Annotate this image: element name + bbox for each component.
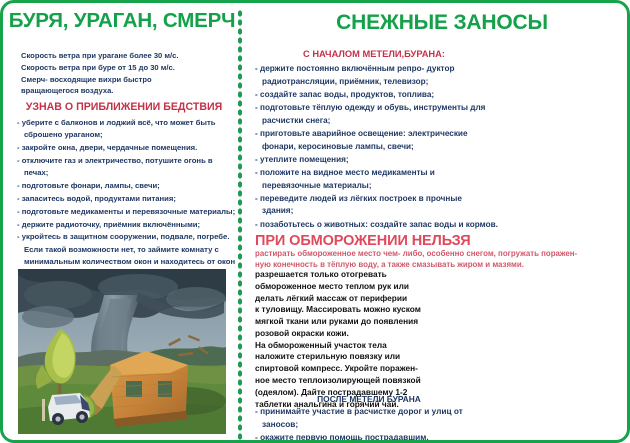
list-item: утеплите помещения; — [255, 154, 495, 167]
frostbite-warning-text: растирать обмороженное место чем- либо, … — [255, 248, 630, 270]
list-item: уберите с балконов и лоджий всё, что мож… — [17, 117, 239, 142]
list-item: переведите людей из лёгких построек в пр… — [255, 193, 495, 219]
list-item: положите на видное место медикаменты и п… — [255, 167, 495, 193]
list-item: отключите газ и электричество, потушите … — [17, 155, 239, 180]
list-item: запаситесь водой, продуктами питания; — [17, 193, 239, 205]
list-item: подготовьте фонари, лампы, свечи; — [17, 180, 239, 192]
after-blizzard-subheading: ПОСЛЕ МЕТЕЛИ БУРАНА — [255, 394, 483, 404]
list-item: окажите первую помощь пострадавшим. — [255, 431, 487, 443]
storm-intro-text: Скорость ветра при урагане более 30 м/с.… — [21, 50, 235, 97]
left-column-storm: БУРЯ, УРАГАН, СМЕРЧ Скорость ветра при у… — [3, 3, 241, 443]
frostbite-instructions-text: разрешается только отогревать обмороженн… — [255, 269, 455, 410]
list-item: подготовьте тёплую одежду и обувь, инстр… — [255, 102, 495, 128]
blizzard-precautions-list: держите постоянно включённым репро- дукт… — [255, 63, 495, 218]
storm-subheading: УЗНАВ О ПРИБЛИЖЕНИИ БЕДСТВИЯ — [11, 101, 237, 113]
list-item: принимайте участие в расчистке дорог и у… — [255, 405, 487, 431]
right-column-snow: СНЕЖНЫЕ ЗАНОСЫ С НАЧАЛОМ МЕТЕЛИ,БУРАНА: … — [247, 3, 630, 443]
storm-precautions-list: уберите с балконов и лоджий всё, что мож… — [17, 117, 239, 281]
list-item: приготовьте аварийное освещение: электри… — [255, 128, 495, 154]
blizzard-animals-item: позаботьтесь о животных: создайте запас … — [255, 220, 630, 229]
list-item: подготовьте медикаменты и перевязочные м… — [17, 206, 239, 218]
list-item: создайте запас воды, продуктов, топлива; — [255, 89, 495, 102]
frostbite-heading: ПРИ ОБМОРОЖЕНИИ НЕЛЬЗЯ — [255, 233, 630, 249]
list-item: закройте окна, двери, чердачные помещени… — [17, 142, 239, 154]
page-title-snow: СНЕЖНЫЕ ЗАНОСЫ — [257, 11, 627, 35]
page-title-storm: БУРЯ, УРАГАН, СМЕРЧ — [7, 9, 237, 33]
after-blizzard-list: принимайте участие в расчистке дорог и у… — [255, 405, 487, 443]
emergency-safety-poster: БУРЯ, УРАГАН, СМЕРЧ Скорость ветра при у… — [0, 0, 630, 443]
tornado-illustration — [18, 269, 226, 434]
list-item: держите постоянно включённым репро- дукт… — [255, 63, 495, 89]
list-item: держите радиоточку, приёмник включёнными… — [17, 219, 239, 231]
blizzard-subheading: С НАЧАЛОМ МЕТЕЛИ,БУРАНА: — [261, 49, 487, 59]
